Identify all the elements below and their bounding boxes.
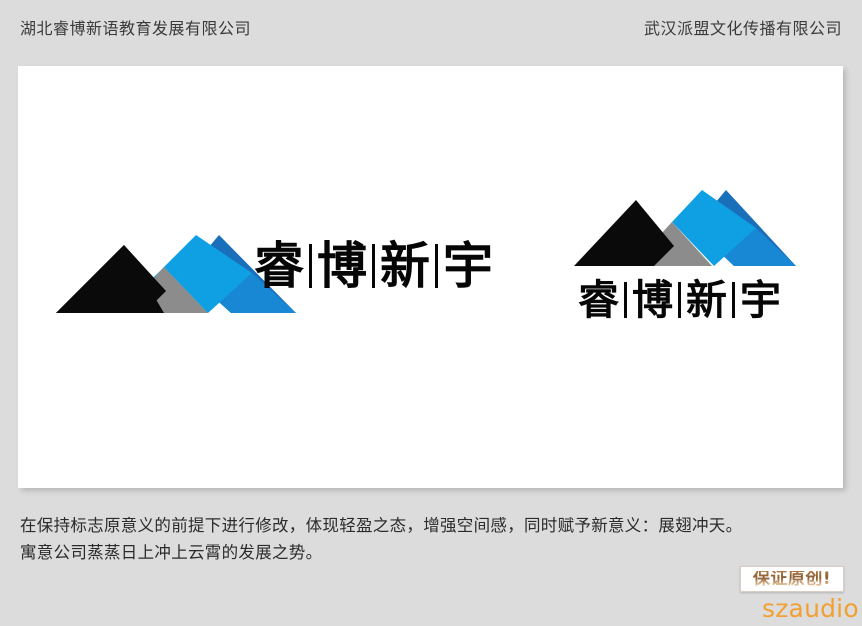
- wordmark-char-1: 睿: [254, 241, 304, 291]
- header-left-company-name: 湖北睿博新语教育发展有限公司: [20, 21, 251, 37]
- description-line-1: 在保持标志原意义的前提下进行修改，体现轻盈之态，增强空间感，同时赋予新意义：展翅…: [20, 512, 848, 539]
- wordmark-char-3: 新: [380, 241, 430, 291]
- mountain-mark-vertical-icon: [574, 188, 796, 266]
- original-guarantee-badge: 保证原创!: [740, 566, 844, 592]
- design-rationale-text: 在保持标志原意义的前提下进行修改，体现轻盈之态，增强空间感，同时赋予新意义：展翅…: [20, 512, 848, 566]
- wordmark-vertical-separator-2: [678, 282, 681, 318]
- header-right-company-name: 武汉派盟文化传播有限公司: [644, 21, 842, 37]
- original-guarantee-badge-label: 保证原创!: [753, 571, 831, 588]
- wordmark-char-4: 宇: [443, 241, 493, 291]
- wordmark-separator-3: [435, 244, 438, 288]
- logo-vertical-lockup: 睿 博 新 宇: [574, 188, 800, 328]
- logo-presentation-card: 睿 博 新 宇: [18, 66, 843, 488]
- wordmark-char-2: 博: [317, 241, 367, 291]
- page-header: 湖北睿博新语教育发展有限公司 武汉派盟文化传播有限公司: [0, 0, 862, 58]
- description-line-2: 寓意公司蒸蒸日上冲上云霄的发展之势。: [20, 539, 848, 566]
- wordmark-vertical-char-1: 睿: [578, 280, 619, 321]
- wordmark-vertical: 睿 博 新 宇: [578, 278, 792, 322]
- wordmark-vertical-char-3: 新: [686, 280, 727, 321]
- wordmark-vertical-separator-1: [624, 282, 627, 318]
- wordmark-vertical-char-2: 博: [632, 280, 673, 321]
- wordmark-horizontal: 睿 博 新 宇: [254, 239, 494, 293]
- wordmark-vertical-char-4: 宇: [740, 280, 781, 321]
- wordmark-separator-1: [309, 244, 312, 288]
- watermark-brand-label: szaudio: [762, 596, 859, 621]
- wordmark-vertical-separator-3: [732, 282, 735, 318]
- watermark: 保证原创! szaudio: [740, 566, 862, 626]
- logo-horizontal-lockup: 睿 博 新 宇: [56, 231, 492, 321]
- wordmark-separator-2: [372, 244, 375, 288]
